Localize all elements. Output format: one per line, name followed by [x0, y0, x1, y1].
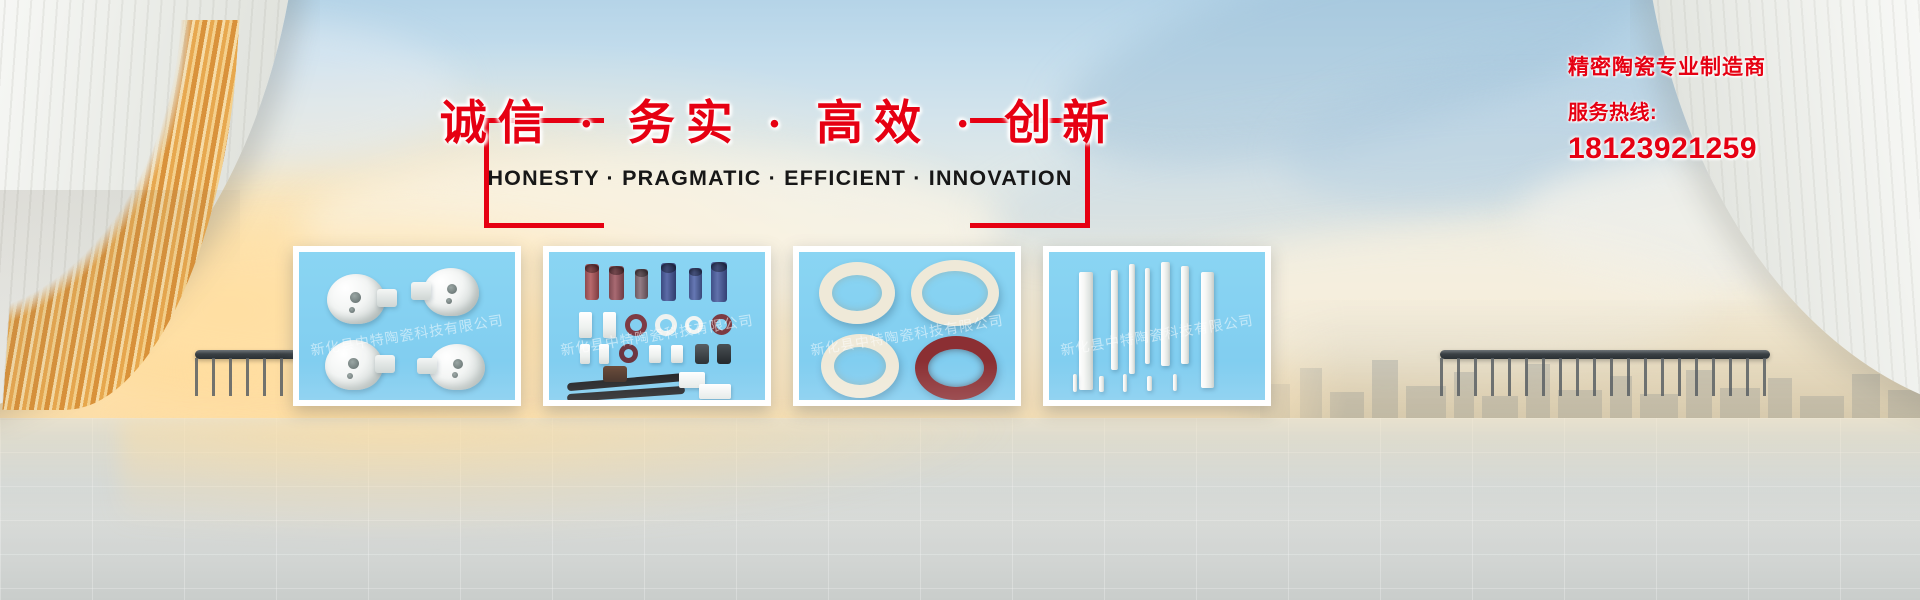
product-panel-1[interactable]: 新化县中特陶瓷科技有限公司 [293, 246, 521, 406]
slogan-english: HONESTY · PRAGMATIC · EFFICIENT · INNOVA… [0, 166, 1560, 191]
slogan-chinese: 诚信 · 务实 · 高效 · 创新 [0, 96, 1560, 152]
company-tagline: 精密陶瓷专业制造商 [1568, 54, 1908, 82]
contact-info-block: 精密陶瓷专业制造商 服务热线: 18123921259 [1568, 54, 1908, 167]
slogan-block: 诚信 · 务实 · 高效 · 创新 HONESTY · PRAGMATIC · … [0, 96, 1560, 191]
product-panel-4[interactable]: 新化县中特陶瓷科技有限公司 [1043, 246, 1271, 406]
hotline-label: 服务热线: [1568, 100, 1908, 126]
hotline-number[interactable]: 18123921259 [1568, 131, 1908, 167]
product-panel-2[interactable]: 新化县中特陶瓷科技有限公司 [543, 246, 771, 406]
hero-banner: 诚信 · 务实 · 高效 · 创新 HONESTY · PRAGMATIC · … [0, 0, 1920, 600]
product-panel-3[interactable]: 新化县中特陶瓷科技有限公司 [793, 246, 1021, 406]
product-panel-row: 新化县中特陶瓷科技有限公司 [0, 246, 1920, 410]
